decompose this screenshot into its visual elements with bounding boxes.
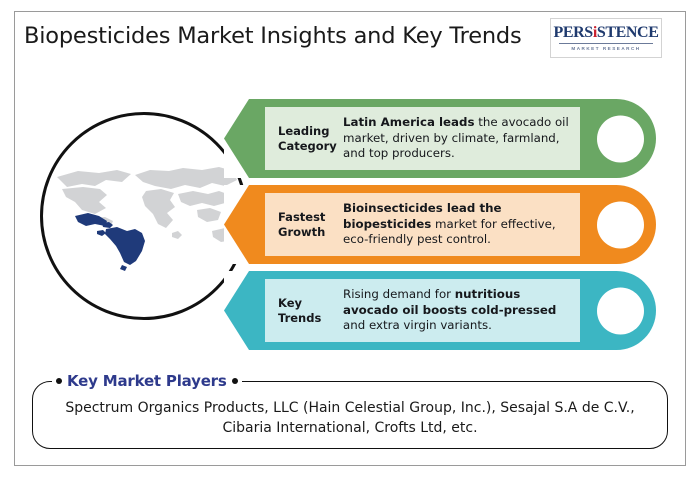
insight-body-lead: Rising demand for — [343, 287, 455, 301]
insight-panel: Leading Category Latin America leads the… — [264, 106, 581, 171]
insight-label-line1: Leading — [278, 124, 343, 138]
logo-wordmark: PERSiSTENCE — [554, 25, 659, 41]
insight-label-line1: Key — [278, 296, 343, 310]
logo-word-part2: STENCE — [597, 24, 659, 41]
ribbon-end-circle — [597, 201, 644, 248]
persistence-market-research-logo: PERSiSTENCE MARKET RESEARCH — [550, 18, 662, 58]
bullet-dot-left-icon — [56, 378, 62, 384]
infographic-page: Biopesticides Market Insights and Key Tr… — [0, 0, 700, 477]
logo-subtitle: MARKET RESEARCH — [571, 46, 640, 51]
ribbon-end-circle — [597, 115, 644, 162]
insight-card-key-trends[interactable]: Key Trends Rising demand for nutritious … — [224, 271, 656, 350]
insight-card-fastest-growth[interactable]: Fastest Growth Bioinsecticides lead the … — [224, 185, 656, 264]
ribbon-end-circle — [597, 287, 644, 334]
logo-divider — [559, 43, 653, 44]
insight-body-rest: and extra virgin variants. — [343, 318, 492, 332]
insight-body: Bioinsecticides lead the biopesticides m… — [343, 201, 580, 248]
ribbon-notch-triangle — [224, 185, 249, 264]
ribbon-left-notch — [224, 271, 249, 350]
logo-word-part1: PERS — [554, 24, 593, 41]
insight-label-line2: Trends — [278, 311, 343, 325]
insight-body: Rising demand for nutritious avocado oil… — [343, 287, 580, 334]
insight-label: Leading Category — [265, 124, 343, 152]
ribbon-left-notch — [224, 185, 249, 264]
insight-body-bold: Latin America leads — [343, 115, 474, 129]
insight-label-line2: Growth — [278, 225, 343, 239]
world-map-circle — [40, 112, 248, 320]
key-market-players-list: Spectrum Organics Products, LLC (Hain Ce… — [44, 398, 656, 439]
insight-body: Latin America leads the avocado oil mark… — [343, 115, 580, 162]
ribbon-notch-triangle — [224, 271, 249, 350]
insight-label-line1: Fastest — [278, 210, 343, 224]
insight-label: Fastest Growth — [265, 210, 343, 238]
ribbon-notch-triangle — [224, 99, 249, 178]
page-title: Biopesticides Market Insights and Key Tr… — [24, 23, 522, 49]
bullet-dot-right-icon — [232, 378, 238, 384]
header: Biopesticides Market Insights and Key Tr… — [24, 20, 664, 72]
insight-panel: Fastest Growth Bioinsecticides lead the … — [264, 192, 581, 257]
key-market-players-heading-group: Key Market Players — [52, 372, 242, 390]
insight-card-leading-category[interactable]: Leading Category Latin America leads the… — [224, 99, 656, 178]
key-market-players-heading: Key Market Players — [67, 372, 227, 390]
insight-label: Key Trends — [265, 296, 343, 324]
ribbon-left-notch — [224, 99, 249, 178]
insight-panel: Key Trends Rising demand for nutritious … — [264, 278, 581, 343]
insight-label-line2: Category — [278, 139, 343, 153]
